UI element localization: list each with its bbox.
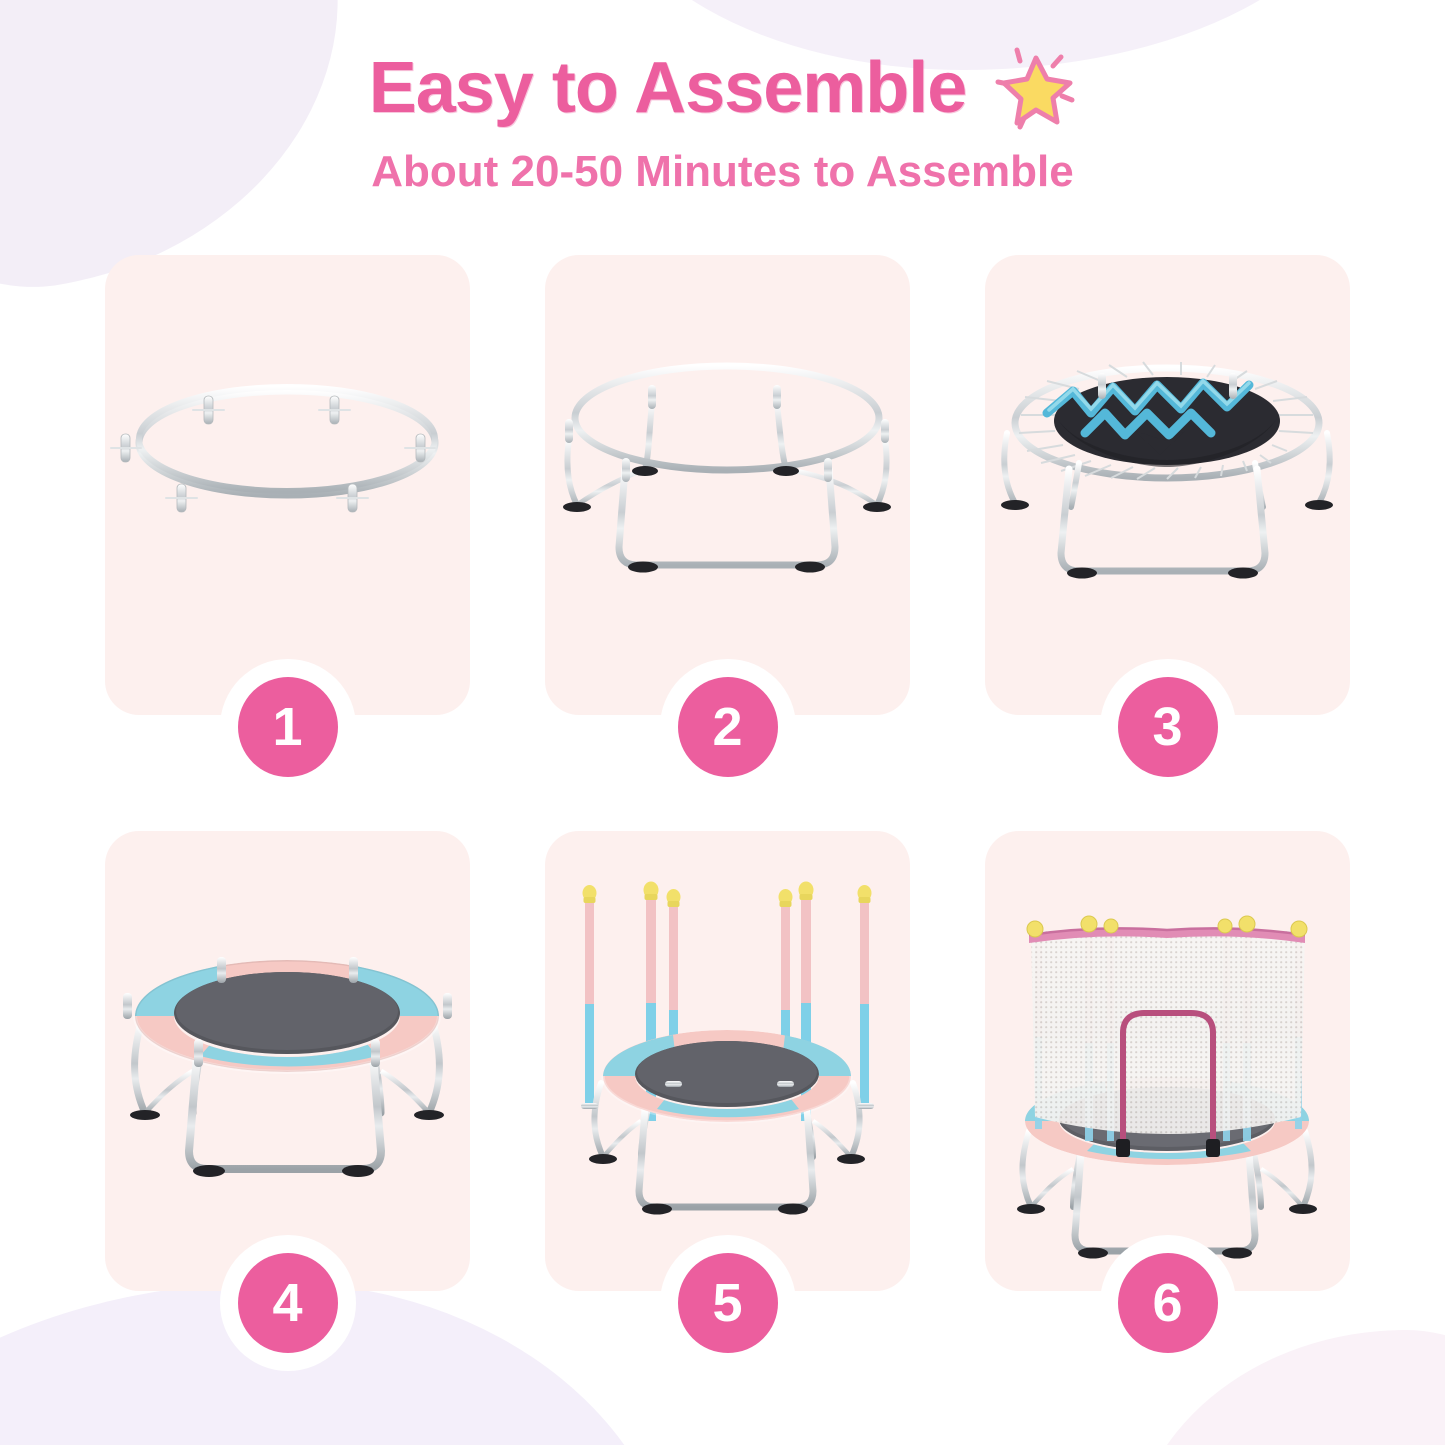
enclosure-pole <box>583 885 597 1109</box>
step2-legs-attached-illustration <box>545 255 910 715</box>
step-card-6 <box>985 831 1350 1291</box>
step-cell-6: 6 <box>985 831 1350 1347</box>
page-title: Easy to Assemble <box>369 52 967 124</box>
assembly-infographic: Easy to Assemble About 20-50 Minutes to … <box>0 0 1445 1445</box>
step1-frame-ring-illustration <box>105 255 470 715</box>
step-card-2 <box>545 255 910 715</box>
step-cell-5: 5 <box>545 831 910 1347</box>
step-badge-2: 2 <box>678 677 778 777</box>
step4-safety-pad-illustration <box>105 831 470 1291</box>
step6-safety-net-illustration <box>985 831 1350 1291</box>
step-card-5 <box>545 831 910 1291</box>
step-cell-2: 2 <box>545 255 910 771</box>
step-badge-6: 6 <box>1118 1253 1218 1353</box>
enclosure-pole <box>858 885 872 1109</box>
step-cell-4: 4 <box>105 831 470 1347</box>
title-row: Easy to Assemble <box>0 42 1445 134</box>
step5-enclosure-poles-illustration <box>545 831 910 1291</box>
step-badge-1: 1 <box>238 677 338 777</box>
step-cell-3: 3 <box>985 255 1350 771</box>
step-card-1 <box>105 255 470 715</box>
decorative-blob-bottom-left-2 <box>0 1355 360 1445</box>
steps-grid: 1 <box>105 255 1350 1347</box>
step-badge-5: 5 <box>678 1253 778 1353</box>
page-subtitle: About 20-50 Minutes to Assemble <box>0 150 1445 194</box>
step3-jump-mat-illustration <box>985 255 1350 715</box>
step-card-4 <box>105 831 470 1291</box>
step-cell-1: 1 <box>105 255 470 771</box>
step-badge-3: 3 <box>1118 677 1218 777</box>
sparkle-star-icon <box>984 44 1076 136</box>
step-card-3 <box>985 255 1350 715</box>
header: Easy to Assemble About 20-50 Minutes to … <box>0 0 1445 194</box>
step-badge-4: 4 <box>238 1253 338 1353</box>
